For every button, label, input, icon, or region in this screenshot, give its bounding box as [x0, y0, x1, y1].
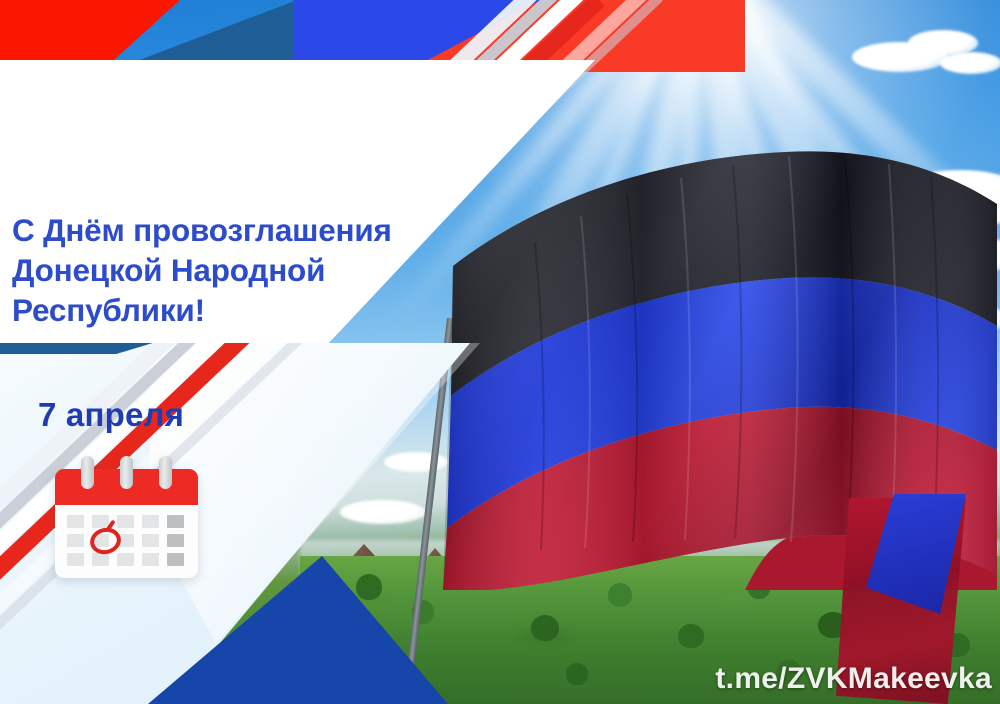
calendar-ring	[81, 456, 94, 489]
greeting-card-image: С Днём провозглашения Донецкой Народной …	[0, 0, 1000, 704]
channel-watermark: t.me/ZVKMakeevka	[715, 662, 992, 696]
event-date-text: 7 апреля	[38, 396, 184, 434]
calendar-ring	[159, 456, 172, 489]
calendar-ring	[120, 456, 133, 489]
calendar-body	[55, 505, 198, 578]
calendar-icon	[55, 456, 198, 578]
